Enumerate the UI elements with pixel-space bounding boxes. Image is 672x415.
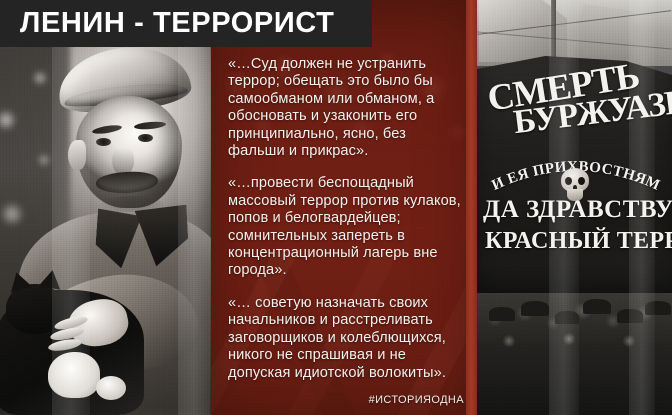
poster-image: «…Суд должен не устранить террор; обещат… bbox=[0, 0, 672, 415]
hashtag: #ИСТОРИЯОДНА bbox=[369, 394, 464, 406]
quotes-panel: «…Суд должен не устранить террор; обещат… bbox=[211, 0, 477, 415]
quote-2: «…провести беспощадный массовый террор п… bbox=[228, 175, 465, 279]
lenin-photograph bbox=[0, 0, 211, 415]
quotes-text-block: «…Суд должен не устранить террор; обещат… bbox=[228, 56, 465, 382]
red-terror-banner-photograph: СМЕРТЬ БУРЖУАЗИИ И ЕЯ ПРИХВОСТНЯМ bbox=[477, 0, 672, 415]
quote-1: «…Суд должен не устранить террор; обещат… bbox=[228, 56, 465, 160]
page-title: ЛЕНИН - ТЕРРОРИСТ bbox=[0, 7, 334, 40]
photo-film-grain bbox=[477, 0, 672, 415]
photo-film-grain bbox=[0, 0, 211, 415]
quote-3: «… советую назначать своих начальников и… bbox=[228, 295, 465, 382]
title-bar: ЛЕНИН - ТЕРРОРИСТ bbox=[0, 0, 372, 47]
